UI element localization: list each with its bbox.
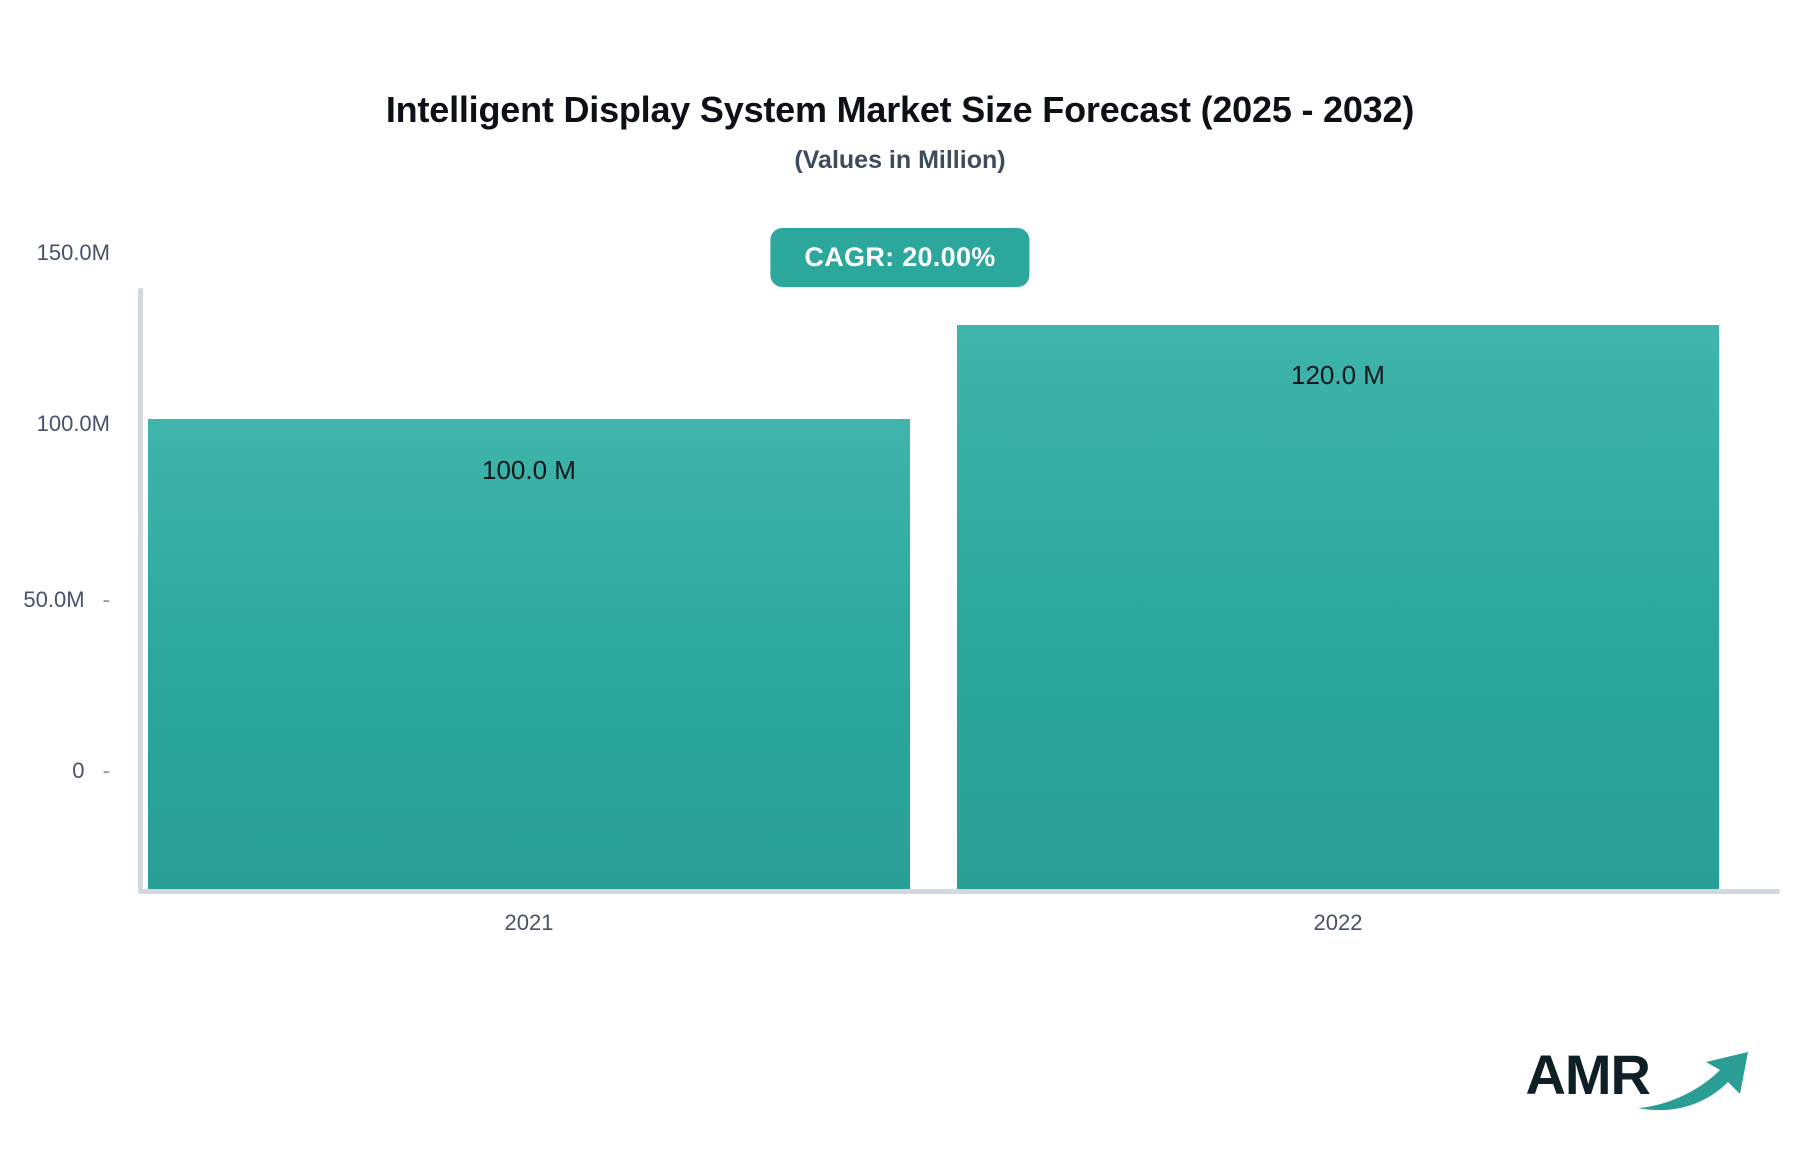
bar-value-label-2021: 100.0 M [148,455,910,486]
x-tick-label-2022: 2022 [957,910,1719,936]
y-tick-label-0: 0 - [72,758,110,784]
y-tick-label-150: 150.0M [37,240,110,266]
chart-page: Intelligent Display System Market Size F… [0,0,1800,1156]
x-axis-line [138,889,1780,894]
y-tick-mark: - [103,758,110,784]
growth-arrow-icon [1636,1048,1756,1119]
y-axis-line [138,288,143,891]
bar-value-label-2022: 120.0 M [957,360,1719,391]
y-tick-text: 100.0M [37,411,110,436]
bar-2022[interactable] [957,325,1719,889]
bar-2021[interactable] [148,419,910,889]
y-tick-mark: - [103,587,110,613]
x-tick-label-2021: 2021 [148,910,910,936]
y-tick-text: 50.0M [23,587,84,612]
y-tick-text: 0 [72,758,84,783]
y-tick-label-100: 100.0M [37,411,110,437]
y-tick-label-50: 50.0M - [23,587,110,613]
plot-area: 150.0M 100.0M 50.0M - 0 - 100.0 M 2021 1… [0,0,1800,1156]
amr-logo-text: AMR [1525,1047,1650,1103]
y-tick-text: 150.0M [37,240,110,265]
amr-logo: AMR [1525,1042,1756,1108]
